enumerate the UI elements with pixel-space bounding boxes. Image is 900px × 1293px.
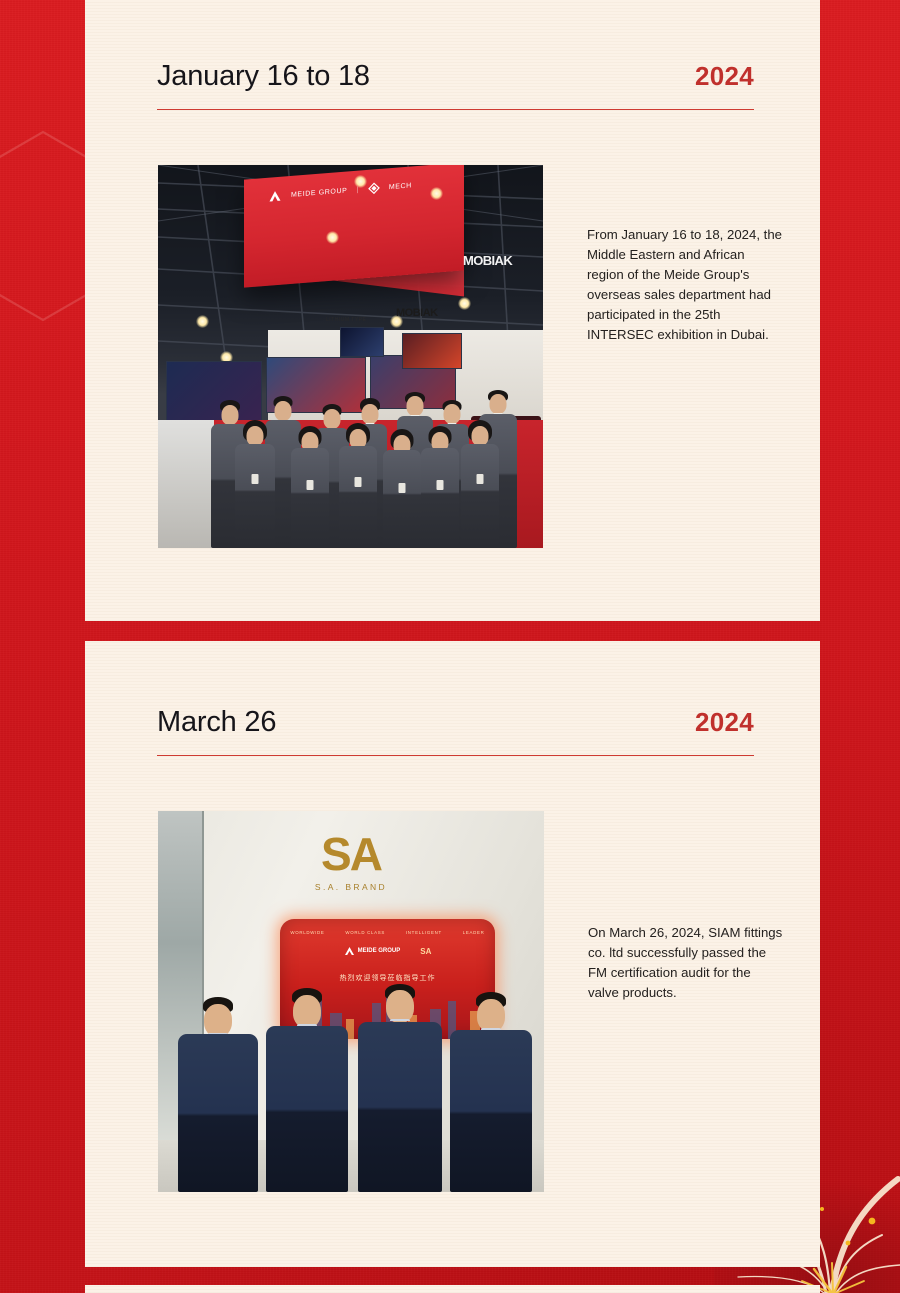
meide-group-logo-icon: [268, 190, 282, 203]
person: [176, 997, 260, 1192]
entry-header: March 26 2024: [157, 708, 754, 756]
entry-title: January 16 to 18: [157, 62, 370, 91]
person: [420, 416, 460, 548]
sa-brand-wall-logo: SA S.A. BRAND: [315, 831, 387, 892]
entry-title: March 26: [157, 708, 276, 737]
ceiling-light-icon: [458, 297, 471, 310]
header-divider: [157, 755, 754, 756]
timeline-card: March 26 2024 SA S.A. BRAND WORLDWIDE WO…: [85, 641, 820, 1267]
booth-display-screen: [340, 327, 384, 357]
banner-brand-label: MEIDE GROUP: [291, 187, 347, 198]
led-keyword: WORLD CLASS: [345, 930, 385, 935]
ceiling-light-icon: [196, 315, 209, 328]
led-brand-logos: MEIDE GROUP SA: [280, 946, 495, 956]
timeline-card: January 16 to 18 2024: [85, 0, 820, 621]
led-keyword: WORLDWIDE: [290, 930, 324, 935]
header-divider: [157, 109, 754, 110]
person: [356, 984, 444, 1192]
person: [264, 988, 350, 1192]
team-group-photo: [168, 373, 543, 548]
neighbour-booth-sign-upper: MOBIAK: [463, 253, 512, 268]
person: [338, 414, 378, 548]
ceiling-light-icon: [430, 187, 443, 200]
banner-brand-2-label: MECH: [389, 182, 412, 191]
led-keyword: INTELLIGENT: [406, 930, 442, 935]
entry-year: 2024: [695, 63, 754, 89]
person: [448, 990, 534, 1192]
entry-photo: MEIDE GROUP | MECH MOBI: [158, 165, 543, 548]
led-keyword: LEADER: [463, 930, 485, 935]
ceiling-light-icon: [354, 175, 367, 188]
ceiling-light-icon: [326, 231, 339, 244]
entry-description: On March 26, 2024, SIAM fittings co. ltd…: [588, 923, 783, 1192]
neighbour-booth-sign: MOBIAK: [396, 307, 438, 319]
booth-sign-label: LITHIUM TYPE: [326, 317, 366, 323]
person: [290, 416, 330, 548]
led-keywords: WORLDWIDE WORLD CLASS INTELLIGENT LEADER: [280, 930, 495, 935]
executives-group-photo: [176, 977, 536, 1192]
entry-photo: SA S.A. BRAND WORLDWIDE WORLD CLASS INTE…: [158, 811, 544, 1192]
sa-logo-subtitle: S.A. BRAND: [315, 882, 387, 892]
timeline-card-next: [85, 1285, 820, 1293]
entry-body: SA S.A. BRAND WORLDWIDE WORLD CLASS INTE…: [158, 811, 783, 1192]
entry-description: From January 16 to 18, 2024, the Middle …: [587, 225, 782, 548]
person: [382, 418, 422, 548]
meide-group-logo-icon: [344, 946, 355, 956]
person: [460, 412, 500, 548]
entry-body: MEIDE GROUP | MECH MOBI: [158, 165, 782, 548]
mech-logo-icon: [368, 182, 380, 195]
entry-year: 2024: [695, 709, 754, 735]
sa-logo-mark: SA: [315, 831, 387, 877]
led-brand-label: MEIDE GROUP: [358, 948, 401, 954]
entry-header: January 16 to 18 2024: [157, 62, 754, 110]
booth-display-screen: [402, 333, 462, 369]
led-brand-2-label: SA: [420, 947, 431, 956]
person: [234, 412, 276, 548]
